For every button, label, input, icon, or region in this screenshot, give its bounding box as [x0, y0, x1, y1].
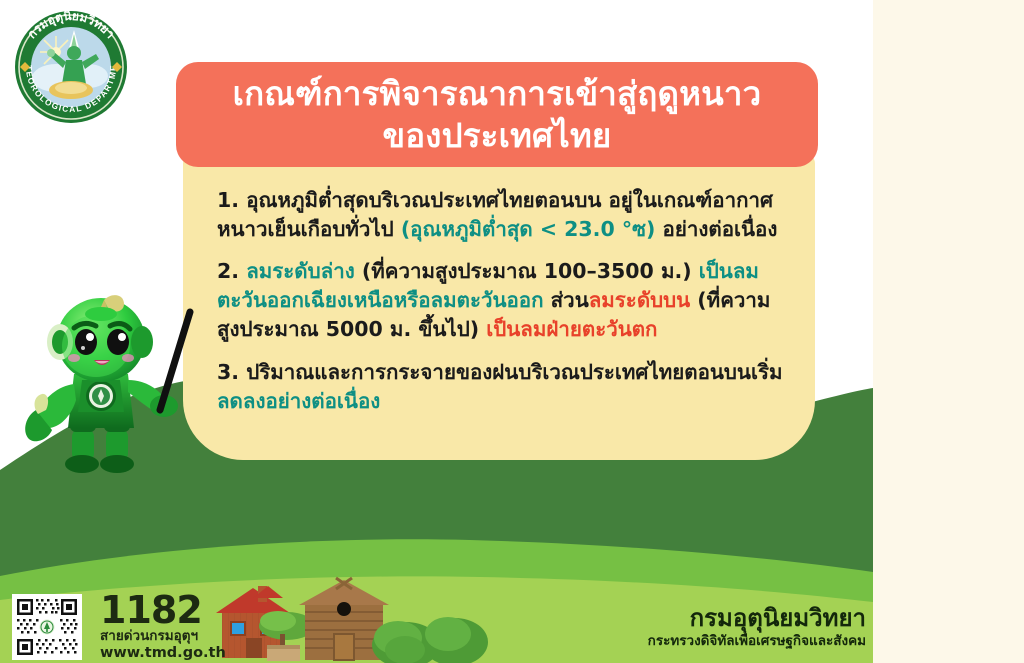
- title-line-2: ของประเทศไทย: [383, 115, 612, 156]
- hotline-label: สายด่วนกรมอุตุฯ: [100, 629, 226, 645]
- hotline-number: 1182: [100, 592, 226, 628]
- ministry-name: กระทรวงดิจิทัลเพื่อเศรษฐกิจและสังคม: [648, 633, 866, 650]
- item-1-seg-2: อย่างต่อเนื่อง: [655, 217, 777, 241]
- title-banner: เกณฑ์การพิจารณาการเข้าสู่ฤดูหนาว ของประเ…: [176, 62, 818, 167]
- criteria-item-3: 3. ปริมาณและการกระจายของฝนบริเวณประเทศไท…: [217, 358, 789, 416]
- item-2-seg-3: ส่วน: [544, 288, 589, 312]
- item-2-number: 2.: [217, 259, 239, 283]
- pointer-stick: [160, 312, 190, 410]
- hotline-block: 1182 สายด่วนกรมอุตุฯ www.tmd.go.th: [100, 592, 226, 661]
- tmd-robot-mascot: [12, 288, 212, 488]
- qr-code[interactable]: [12, 594, 82, 660]
- right-margin-band: [873, 0, 1024, 663]
- criteria-panel: 1. อุณหภูมิต่ำสุดบริเวณประเทศไทยตอนบน อย…: [183, 150, 815, 460]
- item-3-seg-1: ลดลงอย่างต่อเนื่อง: [217, 389, 380, 413]
- item-1-number: 1.: [217, 188, 239, 212]
- item-3-seg-0: ปริมาณและการกระจายของฝนบริเวณประเทศไทยตอ…: [246, 360, 782, 384]
- website-url[interactable]: www.tmd.go.th: [100, 645, 226, 662]
- department-block: กรมอุตุนิยมวิทยา กระทรวงดิจิทัลเพื่อเศรษ…: [648, 605, 866, 650]
- item-2-seg-0: ลมระดับล่าง: [246, 259, 362, 283]
- department-name: กรมอุตุนิยมวิทยา: [648, 605, 866, 631]
- item-2-seg-4: ลมระดับบน: [589, 288, 690, 312]
- title-line-1: เกณฑ์การพิจารณาการเข้าสู่ฤดูหนาว: [233, 73, 762, 114]
- item-3-number: 3.: [217, 360, 239, 384]
- item-2-seg-6: เป็นลมฝ่ายตะวันตก: [486, 317, 657, 341]
- criteria-item-2: 2. ลมระดับล่าง (ที่ความสูงประมาณ 100–350…: [217, 257, 789, 344]
- item-1-seg-1: (อุณหภูมิต่ำสุด < 23.0 °ซ): [401, 217, 656, 241]
- tmd-logo-seal: กรมอุตุนิยมวิทยา METEOROLOGICAL DEPARTME…: [10, 8, 132, 126]
- bushes-illustration: [372, 617, 488, 663]
- infographic-poster: กรมอุตุนิยมวิทยา METEOROLOGICAL DEPARTME…: [0, 0, 1024, 663]
- item-2-seg-1: (ที่ความสูงประมาณ 100–3500 ม.): [362, 259, 699, 283]
- criteria-item-1: 1. อุณหภูมิต่ำสุดบริเวณประเทศไทยตอนบน อย…: [217, 186, 789, 244]
